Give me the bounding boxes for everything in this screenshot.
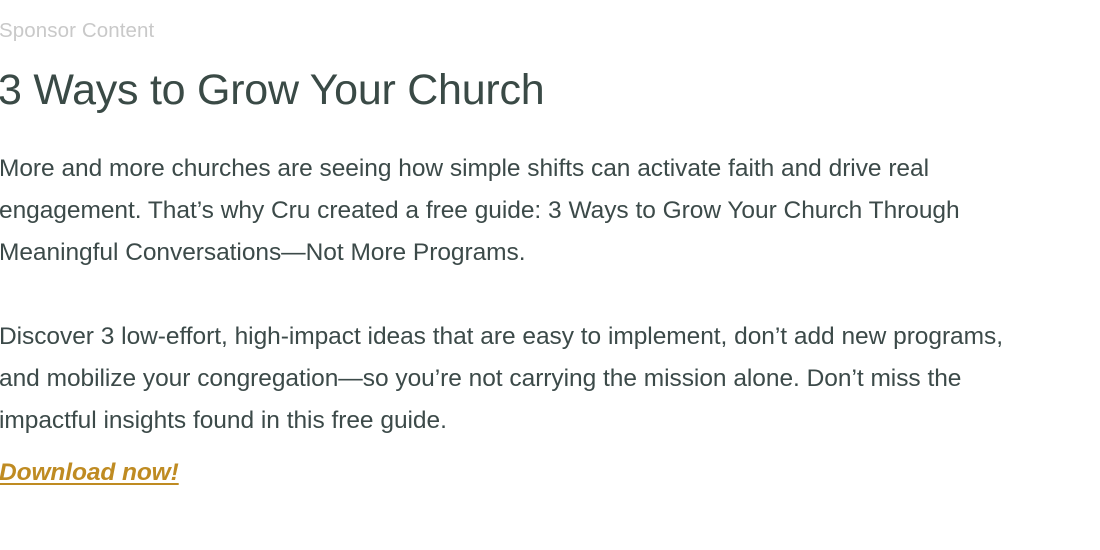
article-paragraph: More and more churches are seeing how si… [0,148,1044,274]
article-body: More and more churches are seeing how si… [0,148,1044,494]
page-title: 3 Ways to Grow Your Church [0,69,1098,112]
download-now-link[interactable]: Download now! [0,452,179,494]
cta-container: Download now! [0,452,1044,494]
sponsored-article: Sponsor Content 3 Ways to Grow Your Chur… [0,0,1100,550]
article-paragraph: Discover 3 low-effort, high-impact ideas… [0,316,1044,442]
sponsor-content-label: Sponsor Content [0,21,1099,42]
